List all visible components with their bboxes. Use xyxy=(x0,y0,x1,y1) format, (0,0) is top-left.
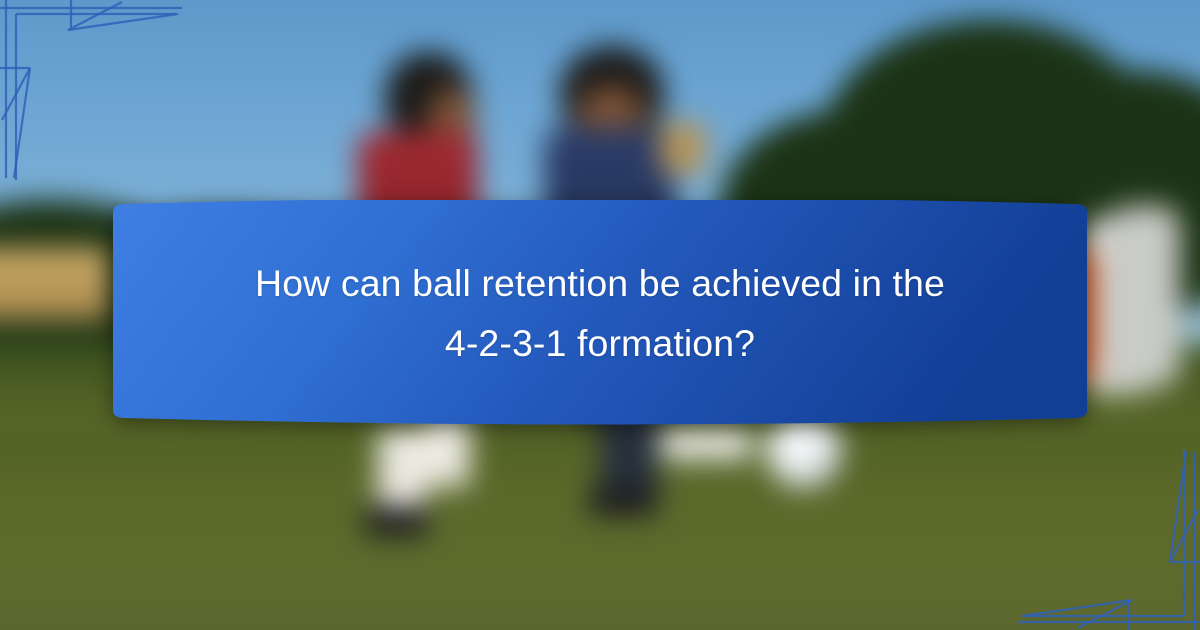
question-line-1: How can ball retention be achieved in th… xyxy=(255,253,945,313)
building-structure xyxy=(0,248,110,320)
question-line-2: 4-2-3-1 formation? xyxy=(445,313,755,373)
social-card-canvas: How can ball retention be achieved in th… xyxy=(0,0,1200,630)
question-text-block: How can ball retention be achieved in th… xyxy=(99,200,1101,428)
question-card: How can ball retention be achieved in th… xyxy=(99,200,1101,428)
